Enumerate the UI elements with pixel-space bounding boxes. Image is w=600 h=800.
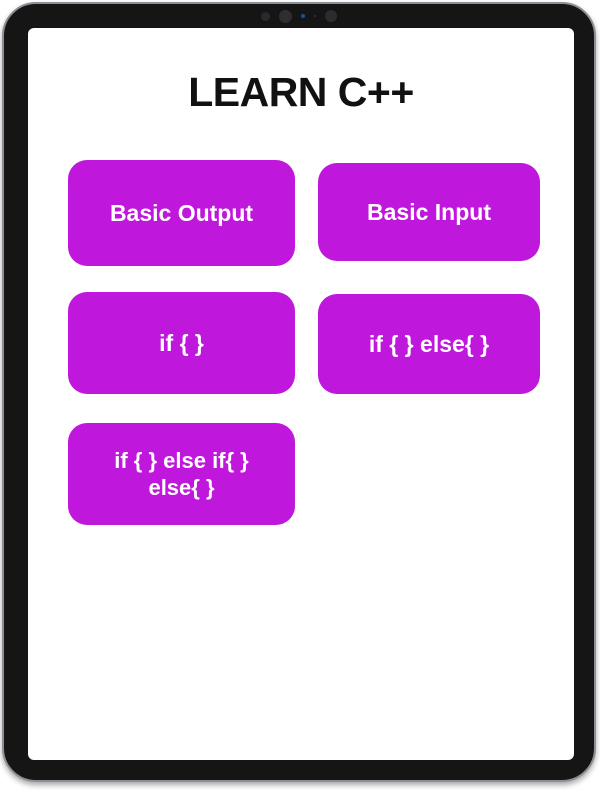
topic-grid: Basic Output Basic Input if { } if { } e… xyxy=(28,156,574,546)
camera-small-icon xyxy=(261,12,270,21)
camera-main-icon xyxy=(279,10,292,23)
sensor-notch xyxy=(4,4,594,28)
tablet-device-frame: LEARN C++ Basic Output Basic Input if { … xyxy=(2,2,596,782)
topic-button-basic-input[interactable]: Basic Input xyxy=(318,163,540,261)
topic-button-if[interactable]: if { } xyxy=(68,292,295,394)
topic-row: if { } else if{ } else{ } xyxy=(28,416,574,546)
camera-right-icon xyxy=(325,10,337,22)
topic-button-if-else-if-else[interactable]: if { } else if{ } else{ } xyxy=(68,423,295,525)
tablet-screen: LEARN C++ Basic Output Basic Input if { … xyxy=(28,28,574,760)
learn-cpp-app: LEARN C++ Basic Output Basic Input if { … xyxy=(28,28,574,760)
microphone-icon xyxy=(314,15,316,17)
topic-button-if-else[interactable]: if { } else{ } xyxy=(318,294,540,394)
page-title: LEARN C++ xyxy=(28,72,574,113)
topic-row: if { } if { } else{ } xyxy=(28,286,574,416)
status-led-icon xyxy=(301,14,305,18)
topic-button-basic-output[interactable]: Basic Output xyxy=(68,160,295,266)
topic-row: Basic Output Basic Input xyxy=(28,156,574,286)
